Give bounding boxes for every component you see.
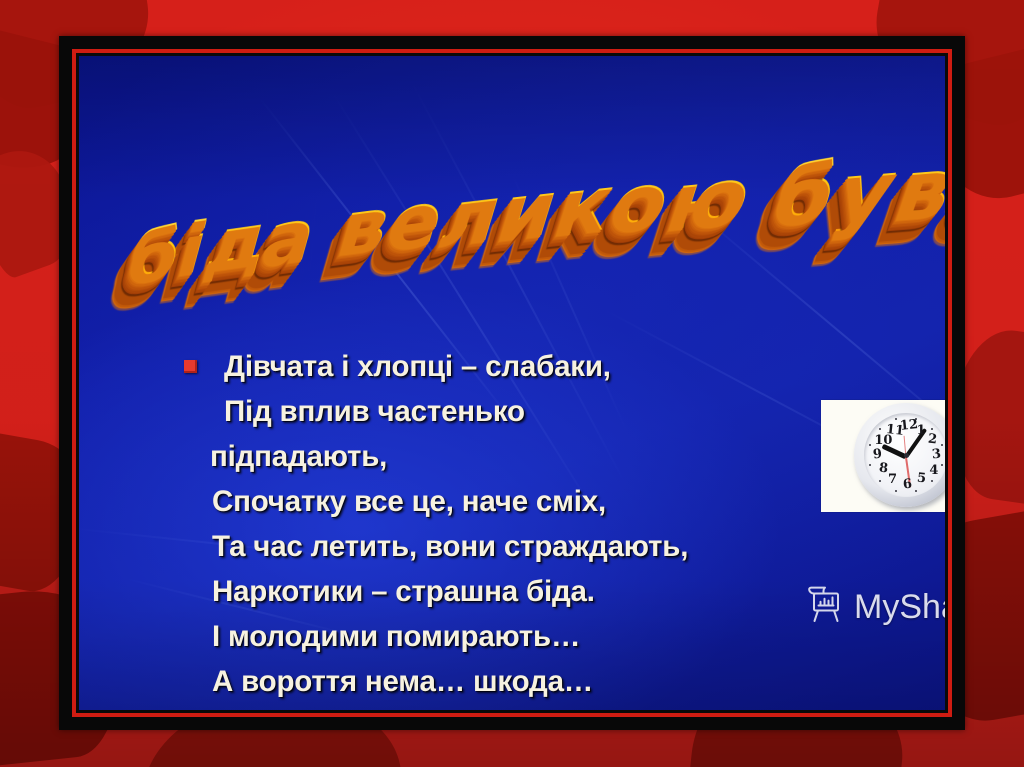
poem-line-text: Спочатку все це, наче сміх, [212, 485, 606, 518]
myshared-watermark: MyShared [805, 585, 945, 628]
poem-line-text: Дівчата і хлопці – слабаки, [224, 350, 611, 383]
wall-clock-image: 121234567891011 [821, 400, 945, 512]
clock-numeral: 9 [872, 448, 882, 462]
poem-line: Та час летить, вони страждають, [184, 524, 944, 569]
clock-numeral: 4 [929, 464, 938, 477]
poem-body: Дівчата і хлопці – слабаки, Під вплив ча… [184, 344, 944, 704]
slide-frame: бідавеликоюбуває Дівчата і хлопці – слаб… [59, 36, 965, 730]
clock-face: 121234567891011 [864, 413, 945, 497]
clock-tick [915, 418, 917, 420]
clock-tick [879, 480, 881, 482]
poem-line-text: Наркотики – страшна біда. [212, 575, 595, 608]
poem-line-text: Під вплив частенько [224, 395, 525, 428]
poem-line-text: підпадають, [210, 440, 387, 473]
red-square-bullet-icon [184, 360, 197, 373]
clock-numeral: 5 [916, 472, 926, 486]
clock-numeral: 2 [928, 433, 938, 447]
clock-bezel: 121234567891011 [854, 403, 945, 507]
clock-numeral: 11 [885, 423, 904, 438]
poem-line: А вороття нема… шкода… [184, 659, 944, 704]
clock-tick [941, 444, 943, 446]
clock-numeral: 6 [902, 478, 912, 492]
clock-tick [931, 480, 933, 482]
clock-numeral: 8 [878, 461, 888, 475]
clock-tick [895, 490, 897, 492]
clock-tick [941, 464, 943, 466]
clock-tick [931, 428, 933, 430]
poem-line-text: Та час летить, вони страждають, [212, 530, 688, 563]
frame-inner-line: бідавеликоюбуває Дівчата і хлопці – слаб… [76, 53, 948, 713]
clock-tick [869, 464, 871, 466]
clock-tick [869, 444, 871, 446]
clock-numeral: 1 [917, 424, 926, 437]
clock-numeral: 3 [931, 448, 941, 462]
poem-line-text: А вороття нема… шкода… [212, 665, 593, 698]
poem-line: Дівчата і хлопці – слабаки, [184, 344, 944, 389]
slide-screenshot: бідавеликоюбуває Дівчата і хлопці – слаб… [0, 0, 1024, 767]
clock-tick [879, 428, 881, 430]
myshared-label: MyShared [854, 590, 945, 624]
frame-red-line: бідавеликоюбуває Дівчата і хлопці – слаб… [72, 49, 952, 717]
slide-canvas: бідавеликоюбуває Дівчата і хлопці – слаб… [79, 56, 945, 710]
clock-numeral: 7 [888, 473, 897, 486]
presentation-board-icon [805, 585, 845, 628]
clock-center-pin [904, 453, 909, 458]
clock-tick [895, 418, 897, 420]
clock-tick [915, 490, 917, 492]
poem-line-text: І молодими помирають… [212, 620, 580, 653]
